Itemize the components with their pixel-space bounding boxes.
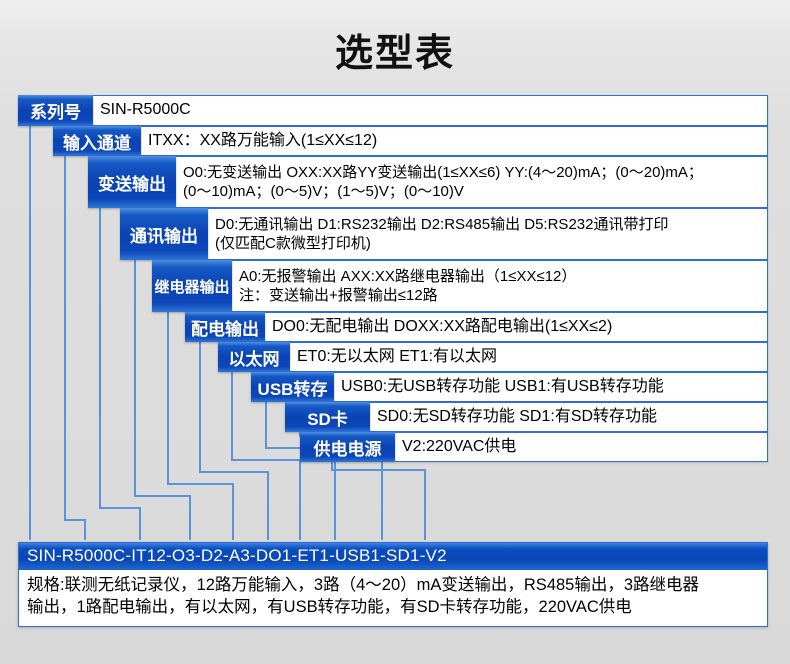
row-text: ITXX：XX路万能输入(1≤XX≤12) bbox=[148, 131, 377, 151]
row-label-power-distribution-output[interactable]: 配电输出 bbox=[185, 312, 265, 342]
row-text: ET0:无以太网 ET1:有以太网 bbox=[297, 347, 497, 367]
table-row: 继电器输出 A0:无报警输出 AXX:XX路继电器输出（1≤XX≤12） 注：变… bbox=[152, 260, 768, 312]
row-label-usb-storage[interactable]: USB转存 bbox=[251, 372, 334, 402]
row-description: DO0:无配电输出 DOXX:XX路配电输出(1≤XX≤2) bbox=[265, 312, 768, 342]
row-text: D0:无通讯输出 D1:RS232输出 D2:RS485输出 D5:RS232通… bbox=[215, 215, 668, 253]
row-label-relay-output[interactable]: 继电器输出 bbox=[152, 260, 232, 312]
row-label-input-channel[interactable]: 输入通道 bbox=[53, 126, 141, 156]
table-row: 输入通道 ITXX：XX路万能输入(1≤XX≤12) bbox=[53, 126, 768, 156]
row-text-line1: D0:无通讯输出 D1:RS232输出 D2:RS485输出 D5:RS232通… bbox=[215, 215, 668, 234]
row-description: V2:220VAC供电 bbox=[395, 432, 768, 462]
row-label-series-number[interactable]: 系列号 bbox=[18, 95, 93, 126]
row-text-line1: O0:无变送输出 OXX:XX路YY变送输出(1≤XX≤6) YY:(4～20)… bbox=[183, 163, 703, 182]
row-text: A0:无报警输出 AXX:XX路继电器输出（1≤XX≤12） 注：变送输出+报警… bbox=[239, 267, 576, 305]
row-label-power-supply[interactable]: 供电电源 bbox=[300, 432, 395, 462]
row-text-line2: 注：变送输出+报警输出≤12路 bbox=[239, 286, 576, 305]
table-row: 通讯输出 D0:无通讯输出 D1:RS232输出 D2:RS485输出 D5:R… bbox=[120, 208, 768, 260]
row-text: V2:220VAC供电 bbox=[402, 437, 516, 457]
summary-spec-line2: 输出，1路配电输出，有以太网，有USB转存功能，有SD卡转存功能，220VAC供… bbox=[27, 597, 759, 619]
table-row: 以太网 ET0:无以太网 ET1:有以太网 bbox=[218, 342, 768, 372]
summary-spec-line1: 规格:联测无纸记录仪，12路万能输入，3路（4～20）mA变送输出，RS485输… bbox=[27, 575, 759, 597]
table-row: 变送输出 O0:无变送输出 OXX:XX路YY变送输出(1≤XX≤6) YY:(… bbox=[88, 156, 768, 208]
selection-table-page: 选型表 系列号 SIN-R5 bbox=[0, 0, 790, 664]
row-description: D0:无通讯输出 D1:RS232输出 D2:RS485输出 D5:RS232通… bbox=[208, 208, 768, 260]
row-text: SD0:无SD转存功能 SD1:有SD转存功能 bbox=[377, 407, 657, 427]
table-row: 供电电源 V2:220VAC供电 bbox=[300, 432, 768, 462]
row-description: A0:无报警输出 AXX:XX路继电器输出（1≤XX≤12） 注：变送输出+报警… bbox=[232, 260, 768, 312]
page-title: 选型表 bbox=[0, 22, 790, 77]
table-row: USB转存 USB0:无USB转存功能 USB1:有USB转存功能 bbox=[251, 372, 768, 402]
row-description: USB0:无USB转存功能 USB1:有USB转存功能 bbox=[334, 372, 768, 402]
row-text-line2: (仅匹配C款微型打印机) bbox=[215, 234, 668, 253]
row-text-line1: A0:无报警输出 AXX:XX路继电器输出（1≤XX≤12） bbox=[239, 267, 576, 286]
row-text-line2: (0～10)mA；(0～5)V；(1～5)V；(0～10)V bbox=[183, 182, 703, 201]
table-row: 系列号 SIN-R5000C bbox=[18, 95, 768, 126]
row-description: O0:无变送输出 OXX:XX路YY变送输出(1≤XX≤6) YY:(4～20)… bbox=[176, 156, 768, 208]
summary-panel: SIN-R5000C-IT12-O3-D2-A3-DO1-ET1-USB1-SD… bbox=[18, 542, 768, 627]
table-row: SD卡 SD0:无SD转存功能 SD1:有SD转存功能 bbox=[285, 402, 768, 432]
row-description: ET0:无以太网 ET1:有以太网 bbox=[290, 342, 768, 372]
summary-model-code: SIN-R5000C-IT12-O3-D2-A3-DO1-ET1-USB1-SD… bbox=[19, 543, 767, 570]
row-text: SIN-R5000C bbox=[100, 100, 191, 120]
summary-spec: 规格:联测无纸记录仪，12路万能输入，3路（4～20）mA变送输出，RS485输… bbox=[19, 570, 767, 626]
row-text: DO0:无配电输出 DOXX:XX路配电输出(1≤XX≤2) bbox=[272, 317, 612, 337]
row-description: SIN-R5000C bbox=[93, 95, 768, 126]
row-label-transmitter-output[interactable]: 变送输出 bbox=[88, 156, 176, 208]
table-row: 配电输出 DO0:无配电输出 DOXX:XX路配电输出(1≤XX≤2) bbox=[185, 312, 768, 342]
row-text: O0:无变送输出 OXX:XX路YY变送输出(1≤XX≤6) YY:(4～20)… bbox=[183, 163, 703, 201]
row-description: ITXX：XX路万能输入(1≤XX≤12) bbox=[141, 126, 768, 156]
row-label-communication-output[interactable]: 通讯输出 bbox=[120, 208, 208, 260]
row-label-ethernet[interactable]: 以太网 bbox=[218, 342, 290, 372]
row-text: USB0:无USB转存功能 USB1:有USB转存功能 bbox=[341, 377, 664, 397]
row-description: SD0:无SD转存功能 SD1:有SD转存功能 bbox=[370, 402, 768, 432]
row-label-sd-card[interactable]: SD卡 bbox=[285, 402, 370, 432]
